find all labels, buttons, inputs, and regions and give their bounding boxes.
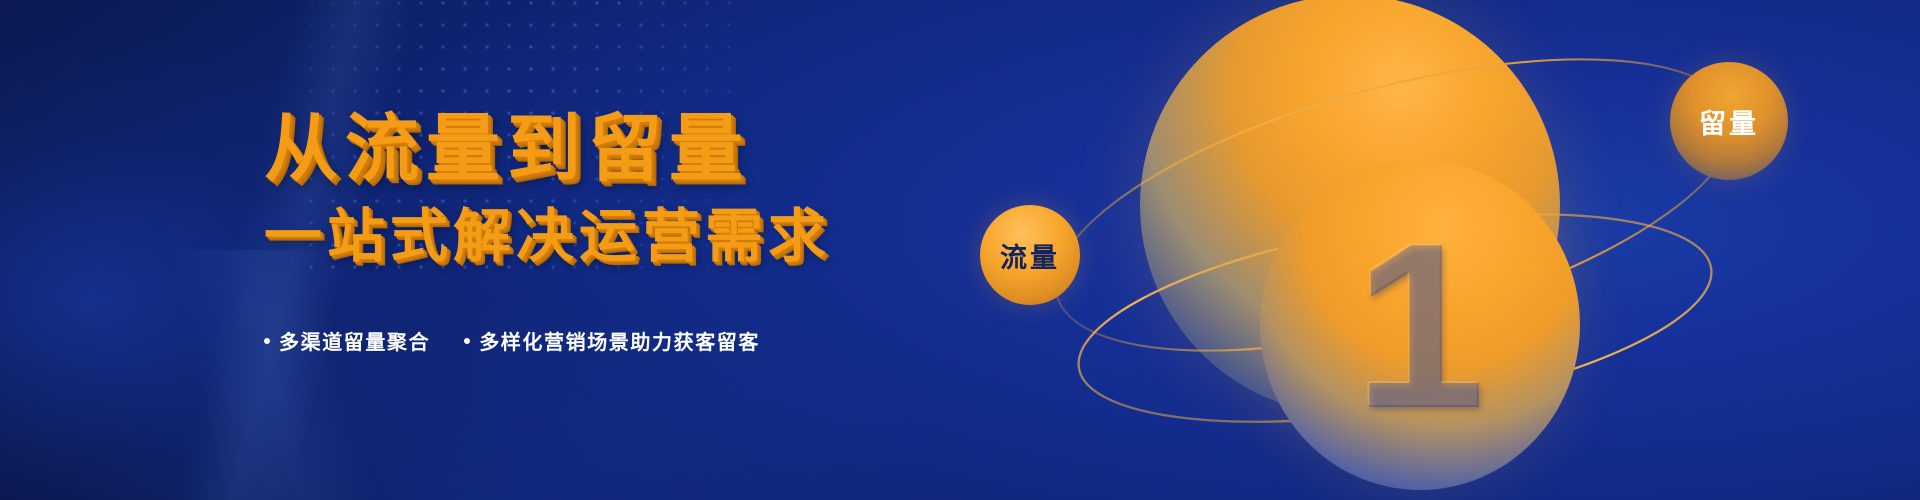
sphere-illustration: 1 流量 留量 <box>940 0 1920 500</box>
node-sphere-retention: 留量 <box>1670 62 1788 180</box>
node-sphere-traffic: 流量 <box>980 205 1080 305</box>
node-label: 流量 <box>1000 236 1060 275</box>
subheadline: 一站式解决运营需求 <box>264 208 904 266</box>
node-label: 留量 <box>1699 102 1759 141</box>
banner-copy: 从流量到留量 一站式解决运营需求 多渠道留量聚合 多样化营销场景助力获客留客 <box>264 112 904 355</box>
bullet-dot-icon <box>264 338 270 344</box>
promo-banner: 从流量到留量 一站式解决运营需求 多渠道留量聚合 多样化营销场景助力获客留客 <box>0 0 1920 500</box>
bullet-label: 多渠道留量聚合 <box>279 326 430 355</box>
numeral-one: 1 <box>1260 160 1580 490</box>
headline: 从流量到留量 <box>264 112 904 186</box>
list-item: 多样化营销场景助力获客留客 <box>464 326 760 355</box>
bullet-dot-icon <box>464 338 470 344</box>
feature-bullet-list: 多渠道留量聚合 多样化营销场景助力获客留客 <box>264 326 904 355</box>
list-item: 多渠道留量聚合 <box>264 326 430 355</box>
bullet-label: 多样化营销场景助力获客留客 <box>479 326 760 355</box>
